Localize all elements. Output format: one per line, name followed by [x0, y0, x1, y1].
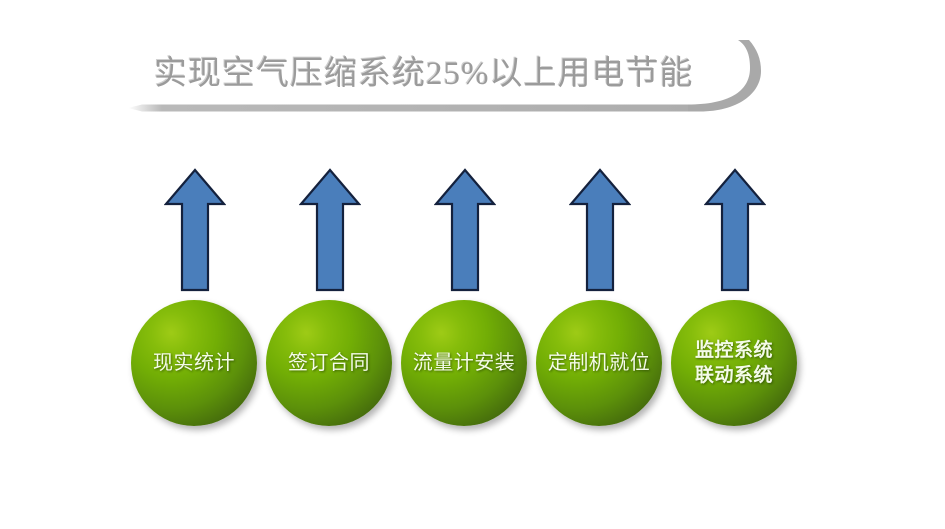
- up-arrow-icon: [434, 168, 496, 293]
- flow-step-label: 现实统计: [153, 350, 235, 376]
- up-arrow-icon: [164, 168, 226, 293]
- up-arrow-icon: [704, 168, 766, 293]
- up-arrow-icon: [569, 168, 631, 293]
- flow-step-label: 定制机就位: [548, 350, 651, 376]
- flow-step-circle[interactable]: 现实统计: [131, 300, 257, 426]
- flow-step-label-line: 监控系统: [695, 338, 773, 363]
- flow-step-label: 签订合同: [288, 350, 370, 376]
- flow-step-circle[interactable]: 定制机就位: [536, 300, 662, 426]
- title-block: 实现空气压缩系统25%以上用电节能: [128, 40, 788, 140]
- page-title: 实现空气压缩系统25%以上用电节能: [154, 46, 754, 102]
- flow-step-circle[interactable]: 签订合同: [266, 300, 392, 426]
- flow-step-label-line: 联动系统: [695, 363, 773, 388]
- flow-step-label: 监控系统 联动系统: [695, 338, 773, 388]
- slide-canvas: 实现空气压缩系统25%以上用电节能 现实统计 签订合同 流量计安装 定制机就位 …: [0, 0, 945, 529]
- flow-step-label: 流量计安装: [413, 350, 516, 376]
- up-arrow-icon: [299, 168, 361, 293]
- flow-step-circle[interactable]: 流量计安装: [401, 300, 527, 426]
- flow-step-circle[interactable]: 监控系统 联动系统: [671, 300, 797, 426]
